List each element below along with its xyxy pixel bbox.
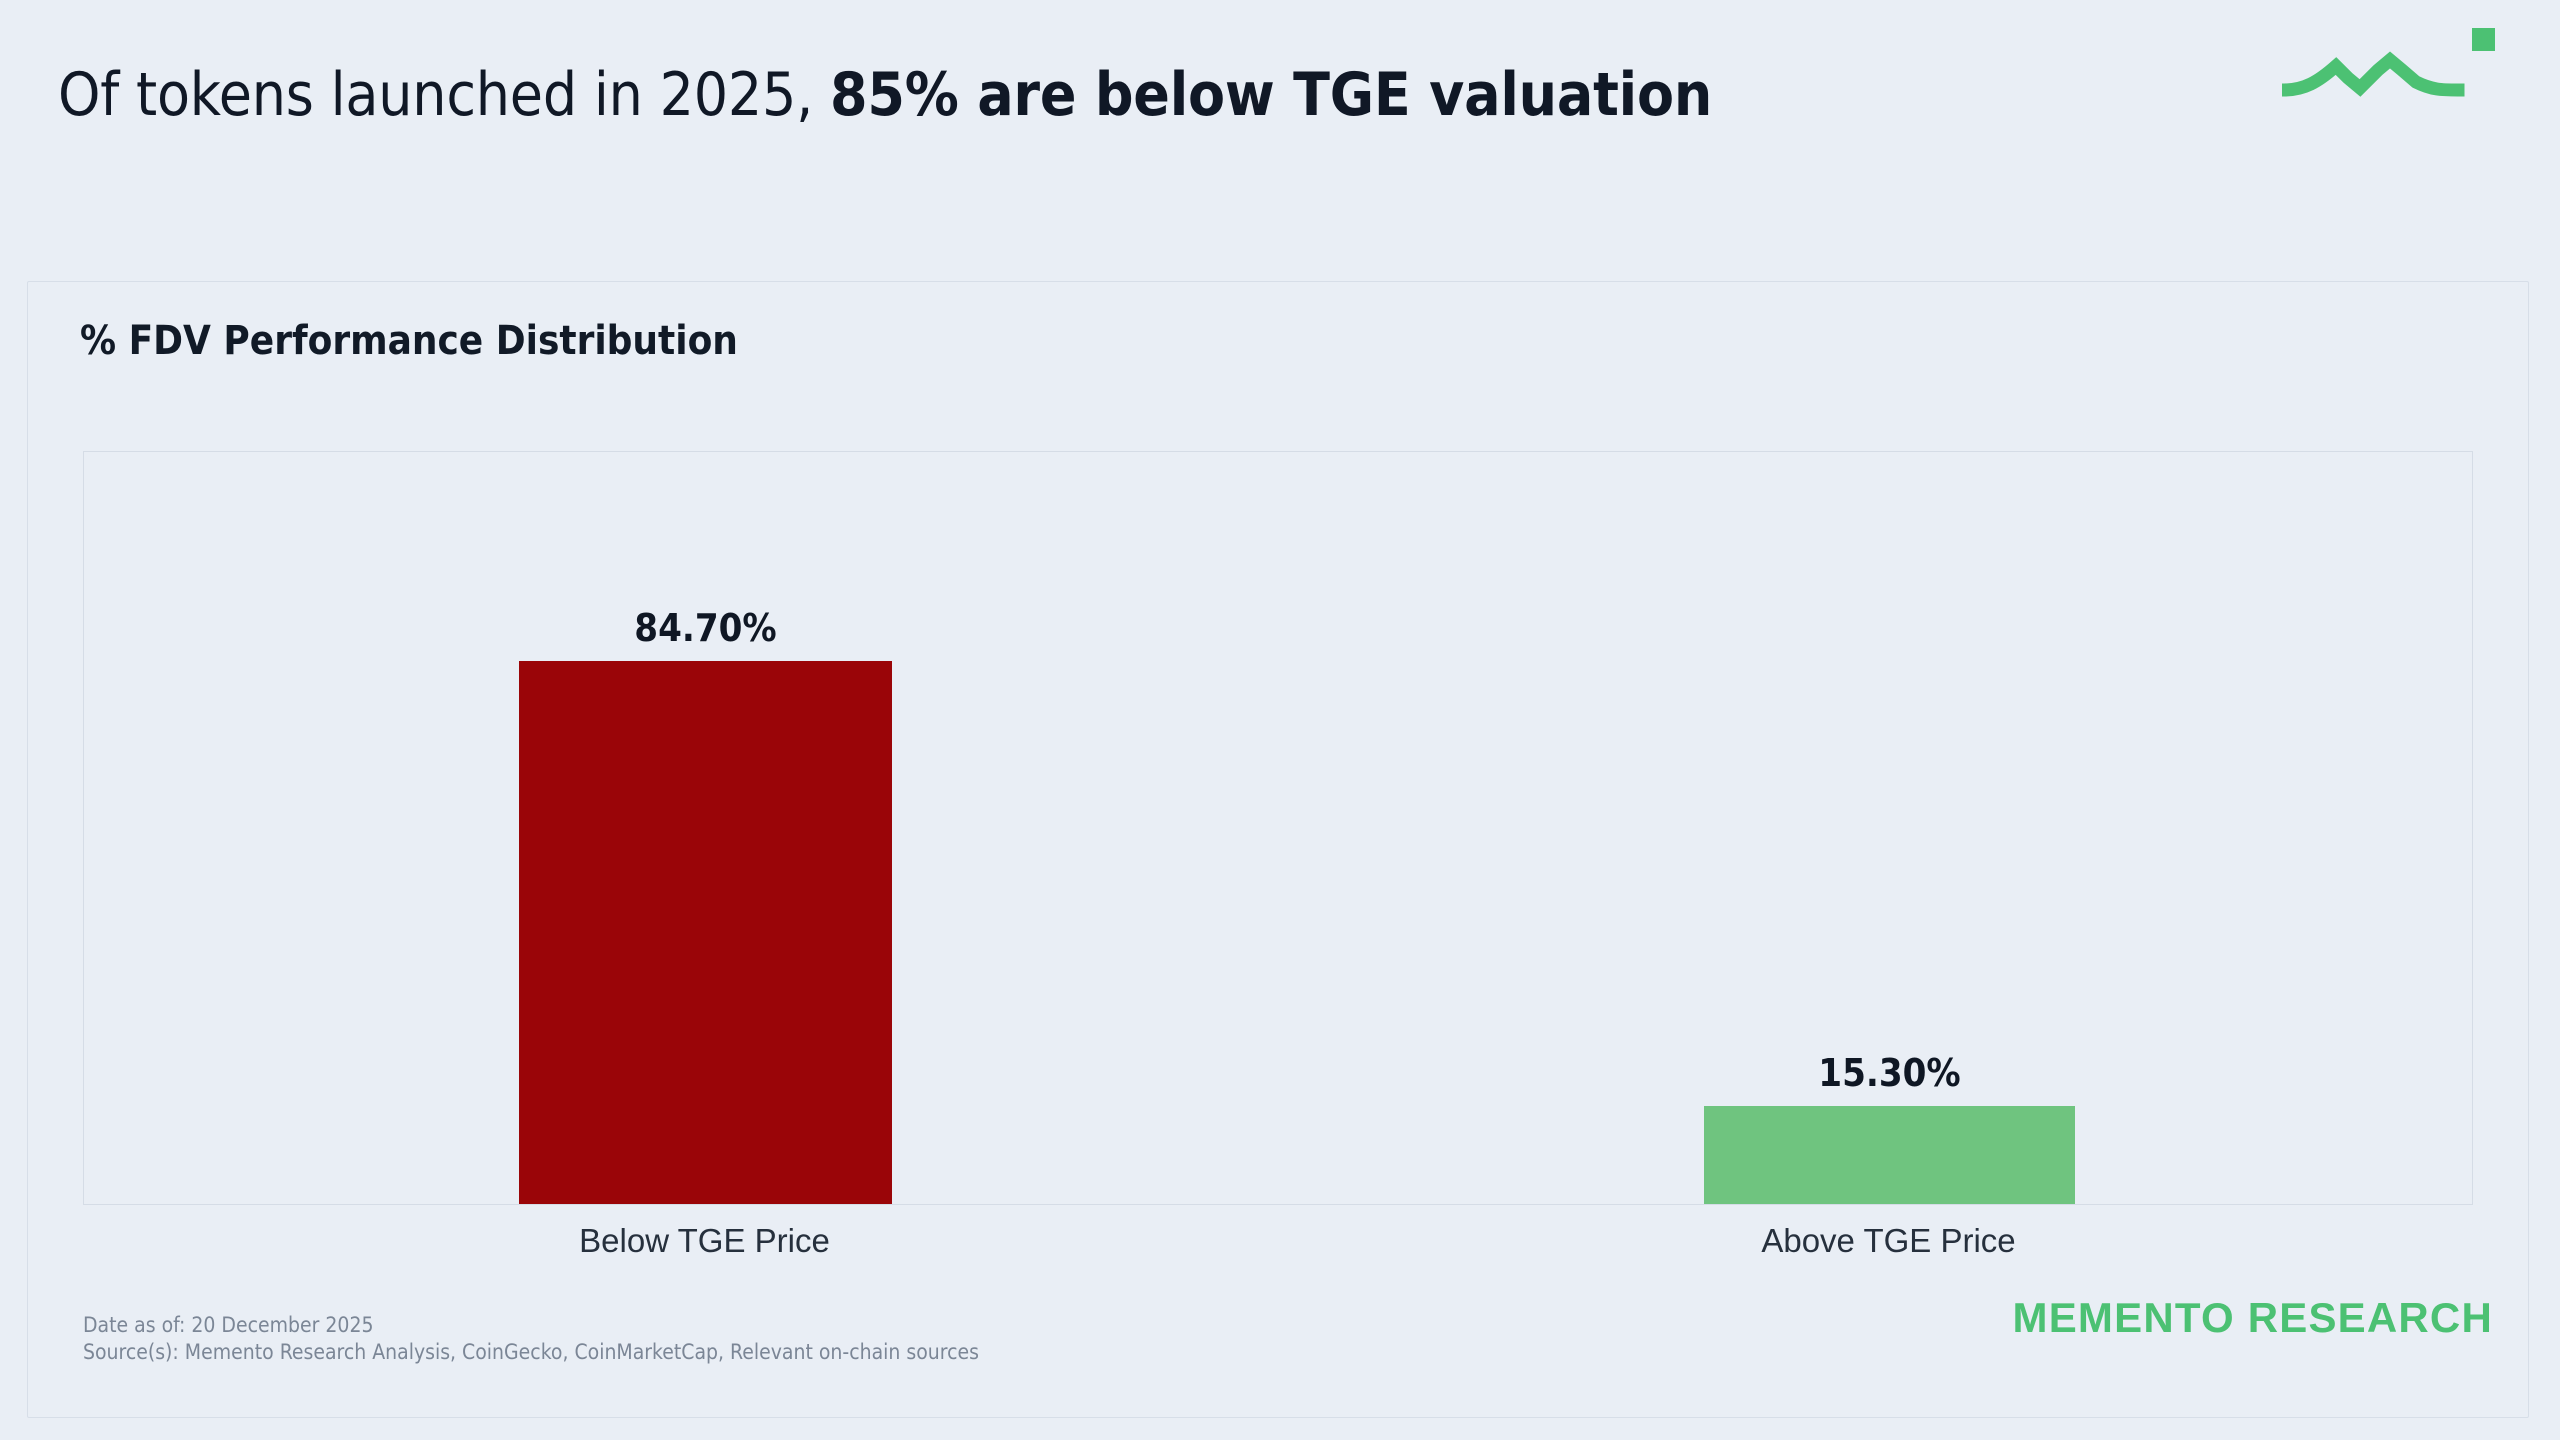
memento-zigzag-logo-icon bbox=[2282, 24, 2512, 104]
plot-area: 84.70% 15.30% bbox=[83, 451, 2473, 1205]
bar-value-above-tge-price: 15.30% bbox=[1704, 1053, 2075, 1093]
bar-value-below-tge-price: 84.70% bbox=[519, 608, 892, 648]
chart-page: Of tokens launched in 2025, 85% are belo… bbox=[0, 0, 2560, 1440]
bar-above-tge-price[interactable] bbox=[1704, 1106, 2075, 1204]
chart-footnotes: Date as of: 20 December 2025 Source(s): … bbox=[83, 1312, 979, 1366]
x-axis-label-below-tge-price: Below TGE Price bbox=[518, 1222, 891, 1260]
chart-title: % FDV Performance Distribution bbox=[80, 318, 738, 364]
page-title: Of tokens launched in 2025, 85% are belo… bbox=[58, 62, 1712, 128]
x-axis-label-above-tge-price: Above TGE Price bbox=[1703, 1222, 2074, 1260]
brand-wordmark: MEMENTO RESEARCH bbox=[2013, 1294, 2493, 1342]
headline-lead: Of tokens launched in 2025, bbox=[58, 60, 830, 130]
chart-card: % FDV Performance Distribution 84.70% 15… bbox=[27, 281, 2529, 1418]
footnote-sources: Source(s): Memento Research Analysis, Co… bbox=[83, 1339, 979, 1366]
footnote-date: Date as of: 20 December 2025 bbox=[83, 1312, 979, 1339]
headline-emphasis: 85% are below TGE valuation bbox=[830, 60, 1712, 130]
bar-below-tge-price[interactable] bbox=[519, 661, 892, 1204]
plot-inner: 84.70% 15.30% bbox=[84, 452, 2472, 1204]
